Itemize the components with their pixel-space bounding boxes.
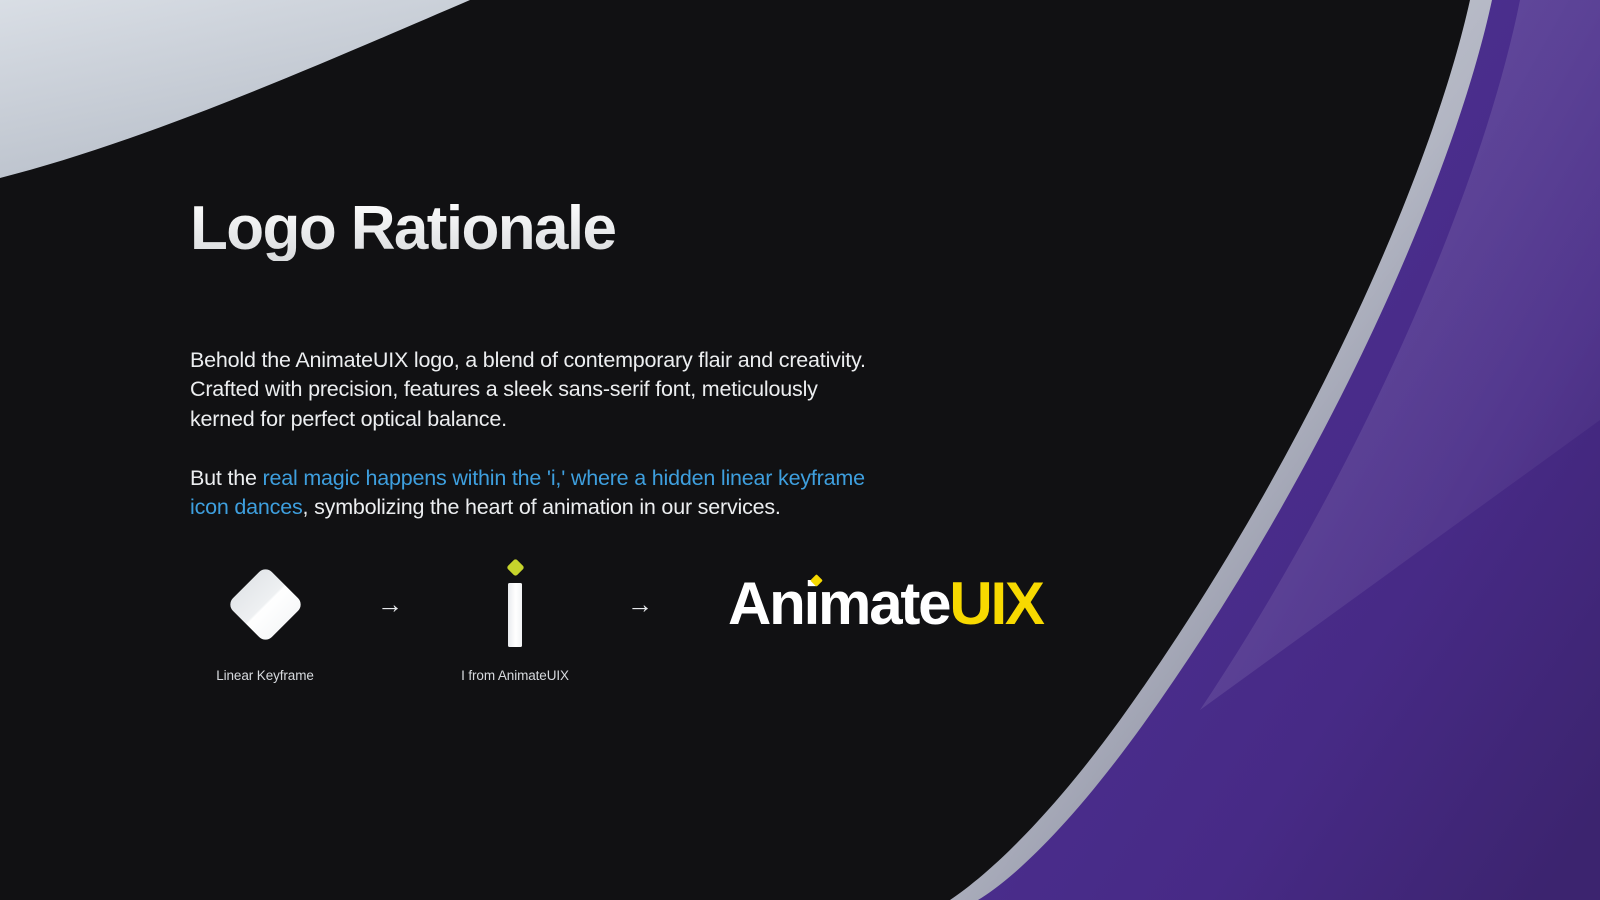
letter-i-icon bbox=[500, 561, 530, 647]
paragraph-lead-text: But the bbox=[190, 466, 263, 490]
evolution-caption-keyframe: Linear Keyframe bbox=[216, 668, 314, 683]
page-title: Logo Rationale bbox=[190, 196, 615, 261]
letter-i-art bbox=[500, 560, 530, 648]
arrow-right-icon-1: → bbox=[340, 560, 440, 648]
evolution-step-keyframe: Linear Keyframe bbox=[190, 560, 340, 683]
letter-i-stem bbox=[508, 583, 522, 647]
slide-content: Logo Rationale Behold the AnimateUIX log… bbox=[190, 0, 1190, 900]
paragraph-tail-text: , symbolizing the heart of animation in … bbox=[303, 495, 781, 519]
diamond-keyframe-icon bbox=[226, 565, 304, 643]
logo-wordmark: AnimateUIX bbox=[728, 574, 1043, 634]
keyframe-art bbox=[238, 560, 293, 648]
keyframe-dot-icon bbox=[506, 558, 524, 576]
logo-evolution-row: Linear Keyframe → I from AnimateUIX → An… bbox=[190, 560, 1043, 683]
paragraph-highlight: But the real magic happens within the 'i… bbox=[190, 464, 880, 523]
evolution-caption-letter-i: I from AnimateUIX bbox=[461, 668, 569, 683]
wordmark-primary: Animate bbox=[728, 570, 949, 637]
purple-shape-sheen bbox=[1200, 0, 1600, 710]
wordmark-accent: UIX bbox=[949, 570, 1042, 637]
logo-wordmark-wrap: AnimateUIX bbox=[728, 560, 1043, 648]
evolution-step-letter-i: I from AnimateUIX bbox=[440, 560, 590, 683]
paragraph-intro: Behold the AnimateUIX logo, a blend of c… bbox=[190, 346, 880, 435]
arrow-right-icon-2: → bbox=[590, 560, 690, 648]
slide-root: Logo Rationale Behold the AnimateUIX log… bbox=[0, 0, 1600, 900]
